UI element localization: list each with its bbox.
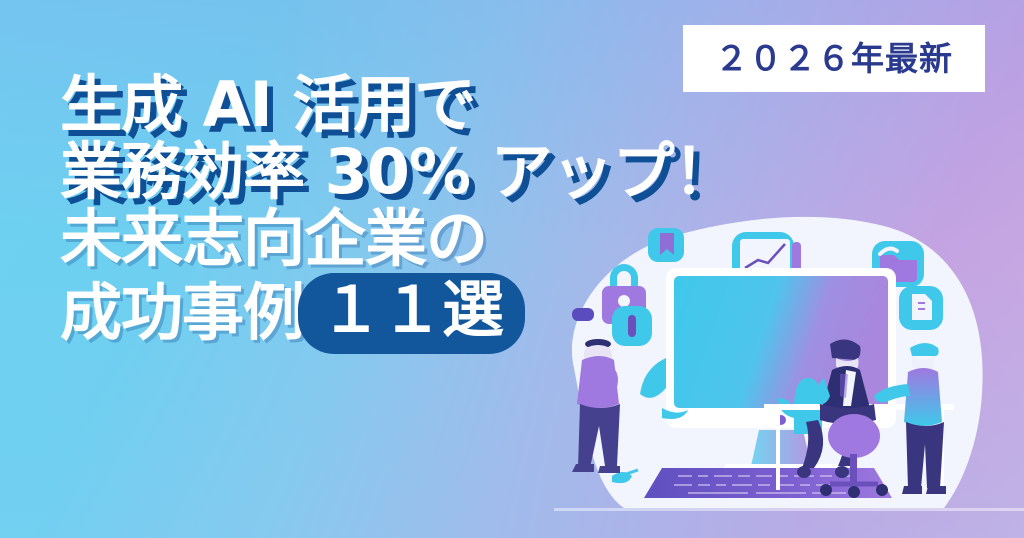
poster-canvas: ２０２６年最新 生成 AI 活用で 業務効率 30% アップ！ 未来志向企業の …: [0, 0, 1024, 538]
headline-line-4: 成功事例 １１選: [60, 273, 660, 354]
document-icon: [899, 286, 943, 330]
count-pill: １１選: [298, 273, 525, 354]
headline-block: 生成 AI 活用で 業務効率 30% アップ！ 未来志向企業の 成功事例 １１選: [60, 72, 660, 354]
headline-line-2: 業務効率 30% アップ！: [60, 139, 660, 206]
year-badge-label: ２０２６年最新: [715, 42, 953, 75]
headline-line-4-prefix: 成功事例: [60, 280, 304, 347]
headline-line-3: 未来志向企業の: [60, 206, 660, 273]
headline-line-1: 生成 AI 活用で: [60, 72, 660, 139]
floor-line: [554, 508, 1024, 511]
year-badge: ２０２６年最新: [683, 25, 985, 92]
